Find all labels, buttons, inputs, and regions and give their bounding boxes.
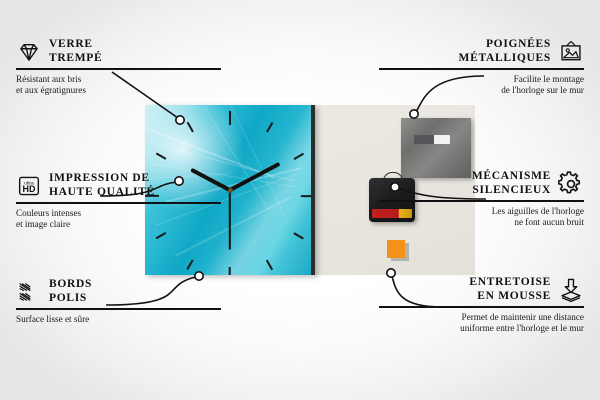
feature-entretoise-en-mousse: ENTRETOISE EN MOUSSE Permet de maintenir… [379,276,584,334]
feature-title: VERRE TREMPÉ [49,38,102,65]
foam-spacer [387,240,405,258]
feature-description: Couleurs intenses et image claire [16,208,221,230]
ultra-hd-icon: ultra HD [16,173,42,199]
hanger-slot [414,135,450,144]
feature-header: MÉCANISME SILENCIEUX [379,170,584,197]
feature-poignees-metalliques: POIGNÉES MÉTALLIQUES Facilite le montage… [379,38,584,96]
feature-description: Permet de maintenir une distance uniform… [379,312,584,334]
picture-frame-hanger-icon [558,39,584,65]
feature-bords-polis: BORDS POLIS Surface lisse et sûre [16,278,221,325]
arrow-down-layers-icon [558,277,584,303]
divider [379,306,584,308]
infographic-canvas: VERRE TREMPÉ Résistant aux bris et aux é… [0,0,600,400]
diamond-icon [16,39,42,65]
feature-title: POIGNÉES MÉTALLIQUES [459,38,551,65]
divider [16,308,221,310]
divider [16,68,221,70]
divider [379,68,584,70]
feature-impression-haute-qualite: ultra HD IMPRESSION DE HAUTE QUALITÉ Cou… [16,172,221,230]
feature-title: MÉCANISME SILENCIEUX [472,170,551,197]
feature-header: BORDS POLIS [16,278,221,305]
feature-header: ENTRETOISE EN MOUSSE [379,276,584,303]
feature-header: ultra HD IMPRESSION DE HAUTE QUALITÉ [16,172,221,199]
clock-hub [228,188,233,193]
feature-header: VERRE TREMPÉ [16,38,221,65]
feature-title: IMPRESSION DE HAUTE QUALITÉ [49,172,155,199]
feature-description: Surface lisse et sûre [16,314,221,325]
clock-edge [311,105,315,275]
feature-description: Résistant aux bris et aux égratignures [16,74,221,96]
divider [379,200,584,202]
feature-description: Les aiguilles de l'horloge ne font aucun… [379,206,584,228]
feature-verre-trempe: VERRE TREMPÉ Résistant aux bris et aux é… [16,38,221,96]
metal-hanger-plate [401,118,471,178]
feature-mecanisme-silencieux: MÉCANISME SILENCIEUX Les aiguilles de l'… [379,170,584,228]
divider [16,202,221,204]
svg-text:HD: HD [23,184,36,194]
polished-edges-icon [16,279,42,305]
feature-title: BORDS POLIS [49,278,92,305]
gear-icon [558,171,584,197]
second-hand [229,188,231,250]
feature-title: ENTRETOISE EN MOUSSE [469,276,551,303]
feature-header: POIGNÉES MÉTALLIQUES [379,38,584,65]
feature-description: Facilite le montage de l'horloge sur le … [379,74,584,96]
